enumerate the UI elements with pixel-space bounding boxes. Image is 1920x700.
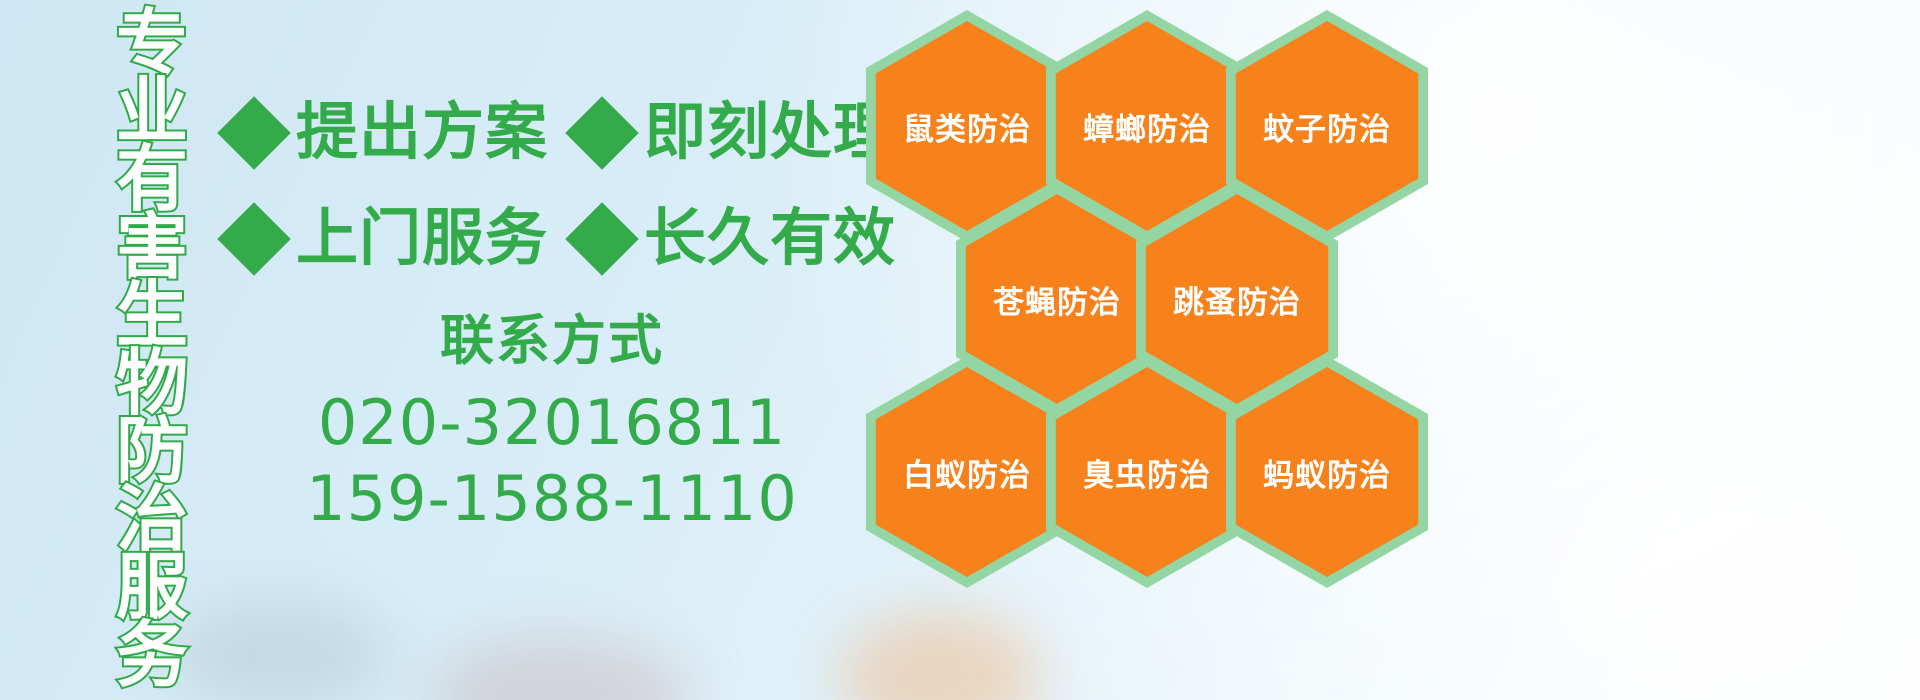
- hex-cell-bedbug[interactable]: 臭虫防治: [1046, 356, 1248, 588]
- feature-row: 提出方案 即刻处理: [228, 80, 868, 186]
- service-honeycomb: 鼠类防治 蟑螂防治 蚊子防治 苍蝇防治 跳蚤防治 白蚁防治: [858, 0, 1478, 700]
- banner-canvas: 专业有害生物防治服务 提出方案 即刻处理 上门服务 长久有效 联: [0, 0, 1920, 700]
- hex-cell-ant[interactable]: 蚂蚁防治: [1226, 356, 1428, 588]
- feature-item: 提出方案: [228, 102, 548, 164]
- phone-number-landline[interactable]: 020-32016811: [232, 385, 872, 461]
- diamond-icon: [217, 96, 291, 170]
- background-blob-1: [170, 600, 390, 700]
- hex-label: 白蚁防治: [866, 356, 1068, 588]
- diamond-icon: [565, 202, 639, 276]
- feature-item: 长久有效: [576, 208, 896, 270]
- feature-label: 提出方案: [296, 102, 548, 164]
- vertical-headline: 专业有害生物防治服务: [104, 10, 200, 570]
- contact-block: 联系方式 020-32016811 159-1588-1110: [232, 312, 872, 537]
- feature-row: 上门服务 长久有效: [228, 186, 868, 292]
- diamond-icon: [565, 96, 639, 170]
- hex-cell-termite[interactable]: 白蚁防治: [866, 356, 1068, 588]
- hex-label: 臭虫防治: [1046, 356, 1248, 588]
- hex-label: 蚂蚁防治: [1226, 356, 1428, 588]
- background-blob-4: [1560, 470, 1860, 690]
- background-blob-2: [430, 636, 690, 700]
- diamond-icon: [217, 202, 291, 276]
- phone-number-mobile[interactable]: 159-1588-1110: [232, 461, 872, 537]
- feature-item: 上门服务: [228, 208, 548, 270]
- contact-heading: 联系方式: [232, 312, 872, 371]
- feature-item: 即刻处理: [576, 102, 896, 164]
- feature-list: 提出方案 即刻处理 上门服务 长久有效: [228, 80, 868, 292]
- feature-label: 上门服务: [296, 208, 548, 270]
